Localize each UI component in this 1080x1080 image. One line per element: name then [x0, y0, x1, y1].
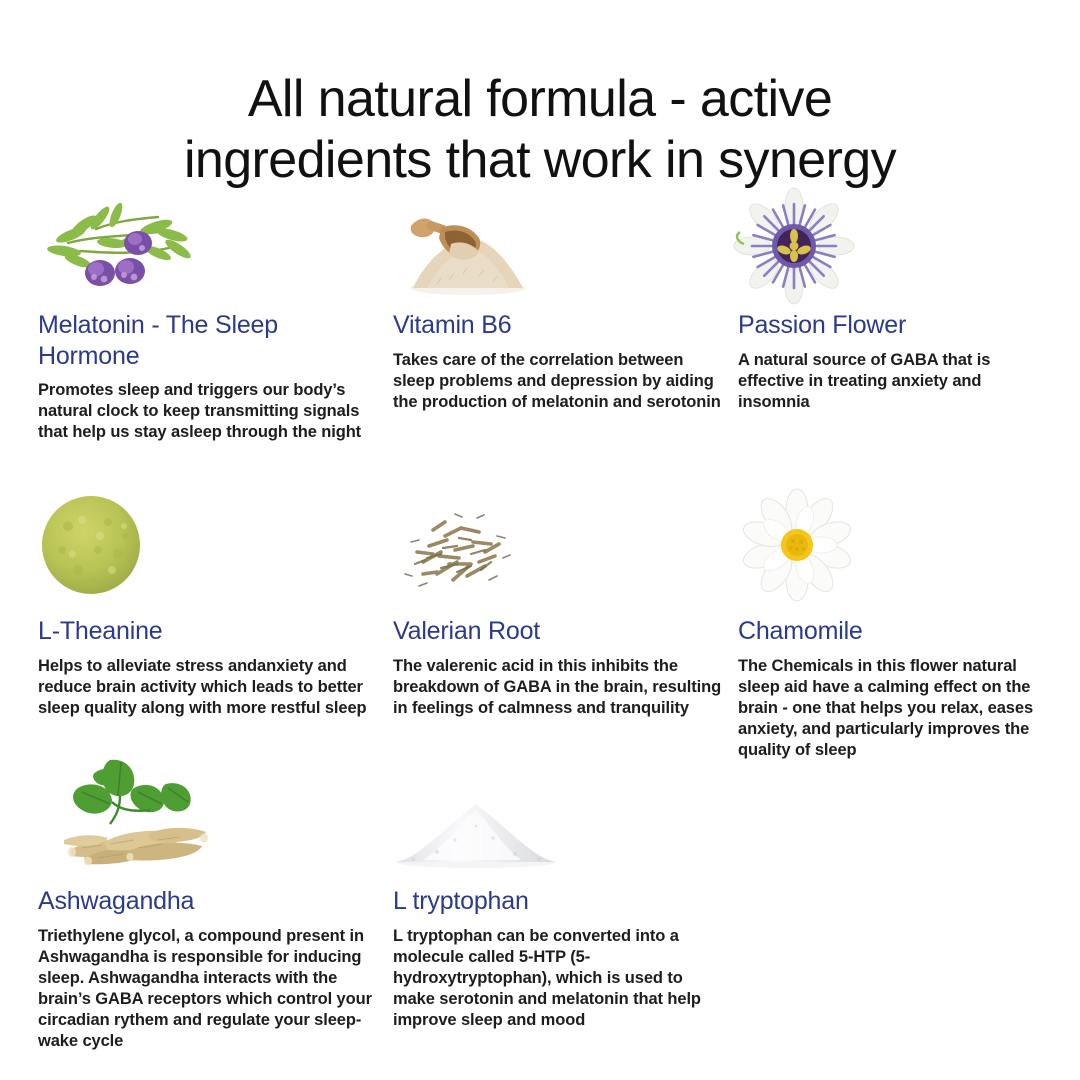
ashwagandha-root-image	[38, 754, 218, 870]
ingredient-image-wrap	[393, 752, 724, 870]
ingredient-image-wrap	[38, 188, 379, 296]
ingredient-card-valerian-root: Valerian Root The valerenic acid in this…	[393, 480, 738, 752]
ingredient-description: Helps to alleviate stress andanxiety and…	[38, 656, 379, 719]
ingredient-image-wrap	[738, 480, 1044, 598]
ingredient-image-wrap	[738, 188, 1044, 296]
ingredient-card-melatonin: Melatonin - The Sleep Hormone Promotes s…	[38, 188, 393, 480]
wooden-scoop-powder-image	[393, 196, 543, 296]
ingredient-card-l-theanine: L-Theanine Helps to alleviate stress and…	[38, 480, 393, 752]
ingredient-description: The valerenic acid in this inhibits the …	[393, 656, 724, 719]
ingredient-title: L-Theanine	[38, 616, 379, 647]
ingredient-image-wrap	[38, 480, 379, 598]
ingredient-image-wrap	[38, 752, 379, 870]
ingredient-description: Takes care of the correlation between sl…	[393, 350, 724, 413]
valerian-root-image	[393, 492, 521, 598]
ingredient-image-wrap	[393, 480, 724, 598]
ingredient-card-passion-flower: Passion Flower A natural source of GABA …	[738, 188, 1058, 480]
ingredient-card-vitamin-b6: Vitamin B6 Takes care of the correlation…	[393, 188, 738, 480]
page-title-line-1: All natural formula - active	[248, 70, 832, 128]
white-powder-mound-image	[393, 790, 559, 870]
ingredient-title: Vitamin B6	[393, 310, 724, 341]
ingredient-description: Triethylene glycol, a compound present i…	[38, 926, 379, 1053]
chamomile-flower-image	[738, 492, 856, 598]
ingredient-title: Ashwagandha	[38, 886, 379, 917]
ingredient-description: A natural source of GABA that is effecti…	[738, 350, 1044, 413]
page-title: All natural formula - active ingredients…	[60, 69, 1020, 192]
ingredient-title: Passion Flower	[738, 310, 1044, 341]
ingredient-card-chamomile: Chamomile The Chemicals in this flower n…	[738, 480, 1058, 752]
green-tea-powder-image	[38, 492, 144, 598]
ingredient-card-l-tryptophan: L tryptophan L tryptophan can be convert…	[393, 752, 738, 1052]
ingredient-description: L tryptophan can be converted into a mol…	[393, 926, 724, 1032]
ingredient-title: Valerian Root	[393, 616, 724, 647]
ingredient-description: Promotes sleep and triggers our body’s n…	[38, 380, 379, 443]
ingredient-card-ashwagandha: Ashwagandha Triethylene glycol, a compou…	[38, 752, 393, 1052]
alfalfa-sprig-image	[38, 191, 208, 296]
ingredients-infographic: All natural formula - active ingredients…	[0, 0, 1080, 1080]
ingredient-image-wrap	[393, 188, 724, 296]
ingredient-grid: Melatonin - The Sleep Hormone Promotes s…	[38, 188, 1058, 1052]
ingredient-title: Chamomile	[738, 616, 1044, 647]
page-title-line-2: ingredients that work in synergy	[184, 131, 896, 189]
ingredient-description: The Chemicals in this flower natural sle…	[738, 656, 1044, 762]
ingredient-title: Melatonin - The Sleep Hormone	[38, 310, 379, 371]
ingredient-title: L tryptophan	[393, 886, 724, 917]
passion-flower-image	[738, 192, 850, 296]
